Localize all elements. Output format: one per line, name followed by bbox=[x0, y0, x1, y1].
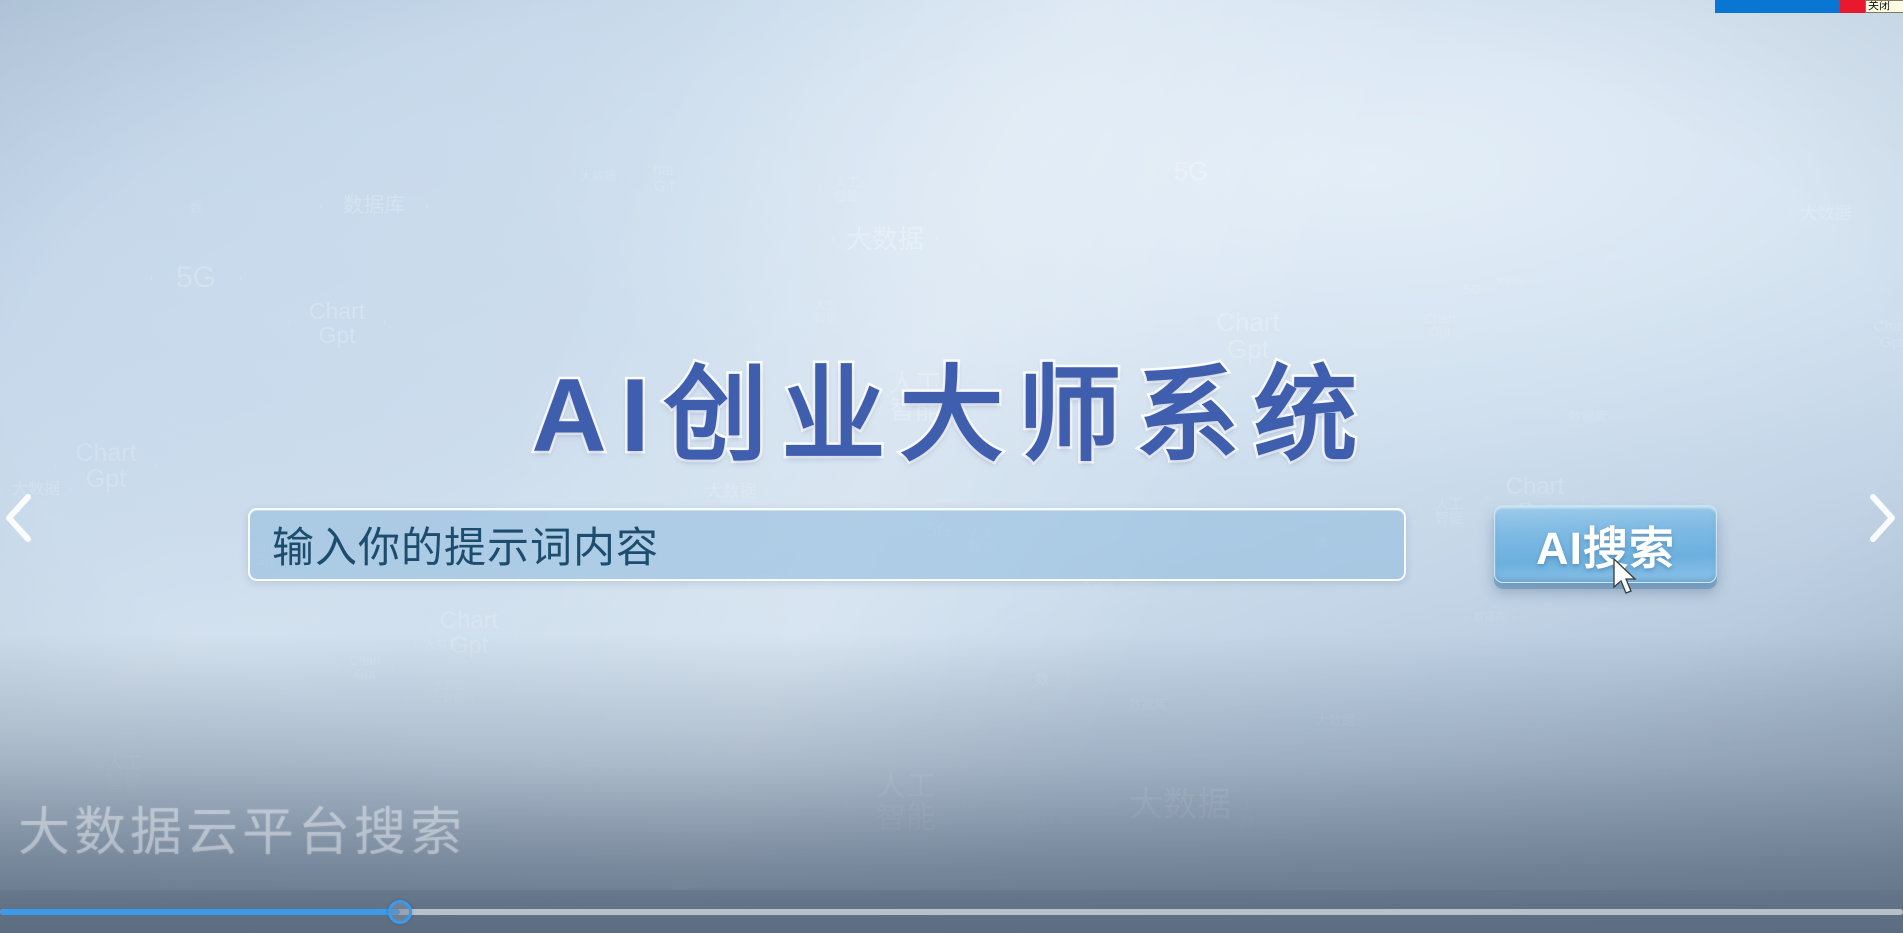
slider-thumb[interactable] bbox=[388, 900, 412, 924]
os-widget-close-button[interactable] bbox=[1840, 0, 1865, 13]
os-widget-blue-bar[interactable] bbox=[1715, 0, 1840, 13]
search-row: 输入你的提示词内容 AI搜索 bbox=[248, 505, 1717, 583]
carousel-next-chevron-icon[interactable] bbox=[1859, 489, 1901, 547]
ai-search-landing-page: 数据库数5GChart GptChart Gpt大数据har G t大数据人工 … bbox=[0, 0, 1903, 933]
ai-search-button[interactable]: AI搜索 bbox=[1494, 505, 1717, 583]
background-watermark-text: 大数据云平台搜索 bbox=[18, 790, 466, 865]
carousel-prev-chevron-icon[interactable] bbox=[0, 489, 42, 547]
page-title: AI创业大师系统 bbox=[0, 330, 1903, 481]
media-progress-slider[interactable] bbox=[0, 890, 1903, 933]
os-widget-close-tooltip: 关闭 bbox=[1865, 0, 1903, 13]
search-input[interactable]: 输入你的提示词内容 bbox=[248, 508, 1406, 581]
slider-fill bbox=[0, 909, 400, 915]
ai-search-button-label: AI搜索 bbox=[1536, 512, 1675, 577]
os-taskbar-widget[interactable]: 关闭 bbox=[1715, 0, 1903, 13]
search-input-placeholder: 输入你的提示词内容 bbox=[272, 514, 659, 575]
